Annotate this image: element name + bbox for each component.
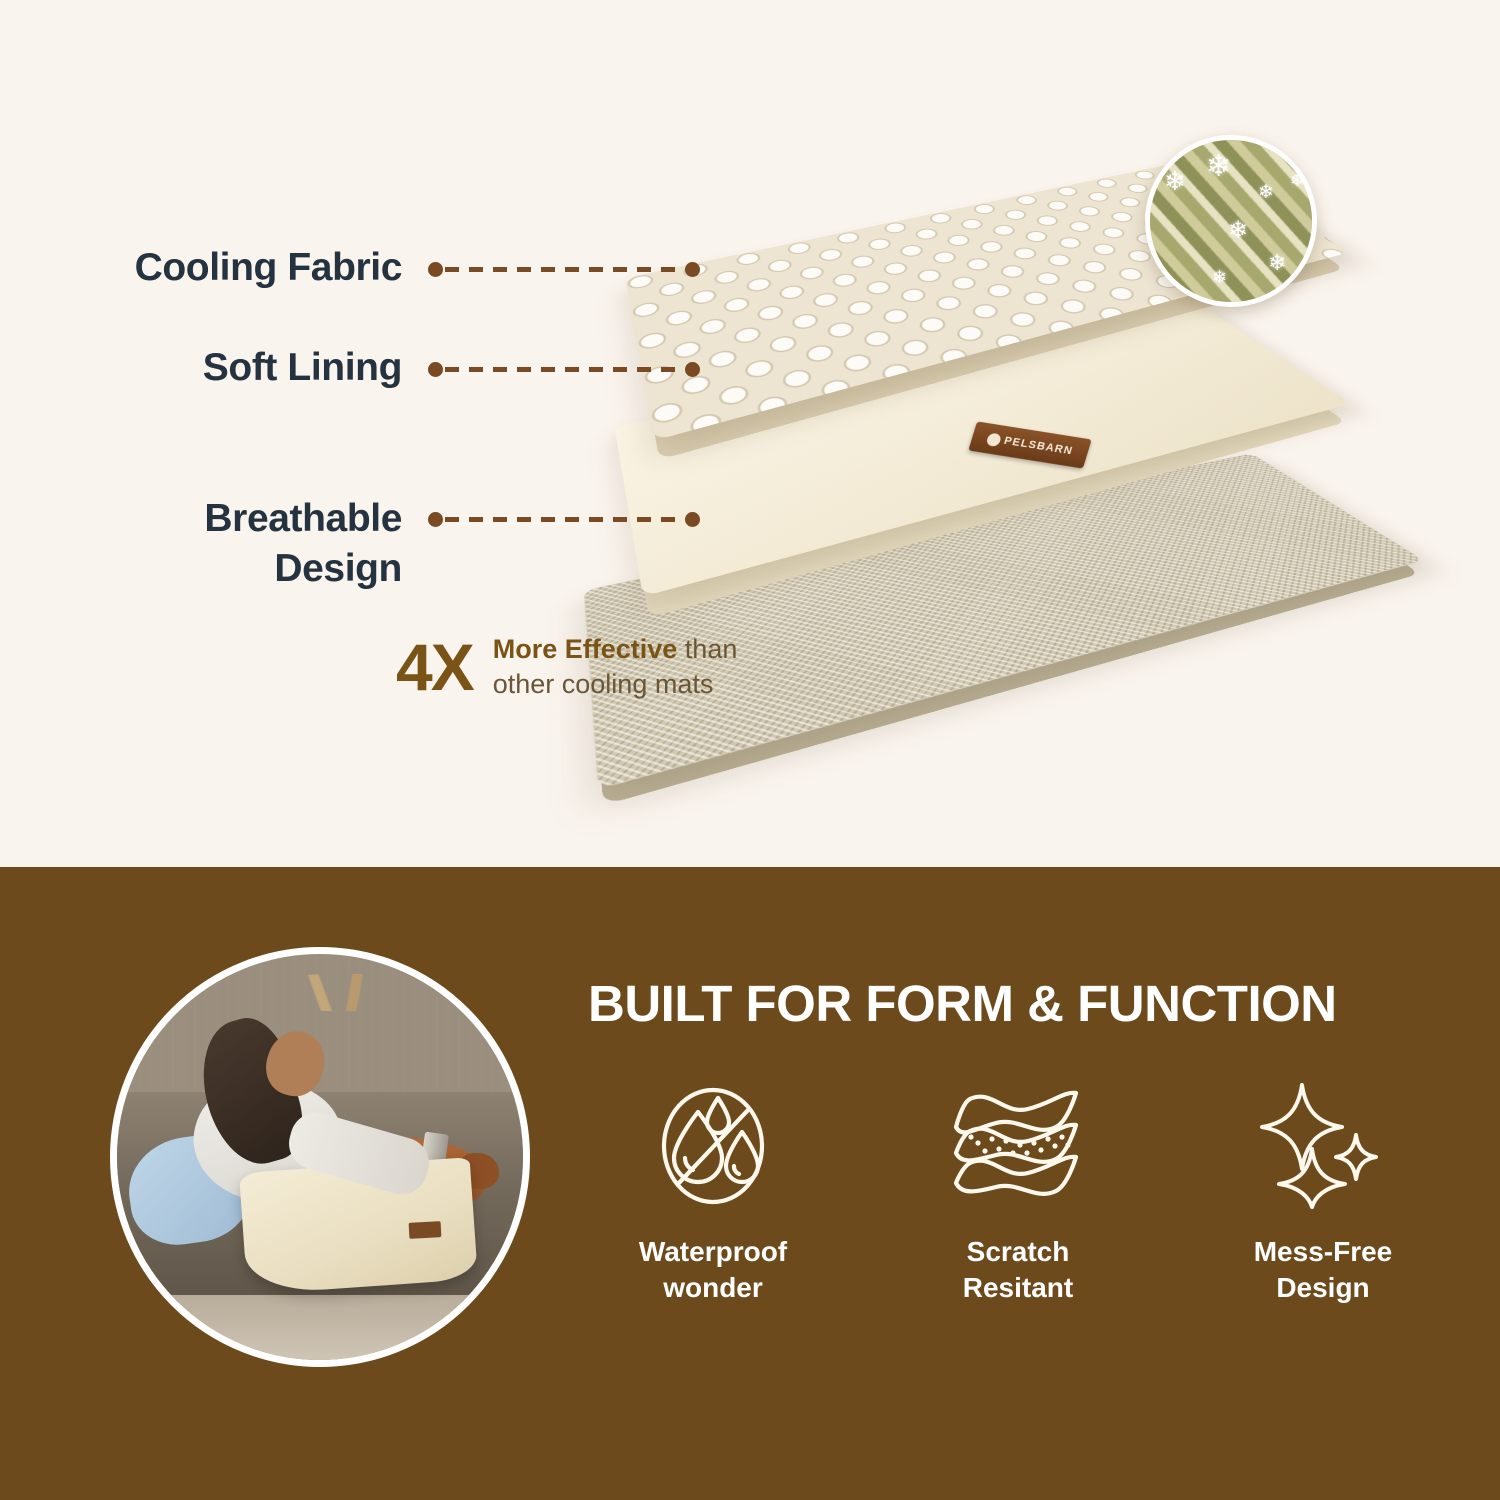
features-heading: BUILT FOR FORM & FUNCTION [588, 974, 1448, 1034]
sparkles-icon [1260, 1082, 1386, 1210]
effectiveness-claim: 4X More Effective than other cooling mat… [396, 632, 737, 702]
photo-floor [117, 1295, 523, 1360]
claim-text-rest: than [677, 634, 737, 664]
snowflake-icon: ❄ [1164, 170, 1186, 192]
claim-text: More Effective than other cooling mats [493, 632, 738, 702]
feature-label-line-1: Waterproof [639, 1234, 787, 1270]
feature-label-line-1: Scratch [963, 1234, 1073, 1270]
snowflake-icon: ❄ [1298, 258, 1311, 280]
product-infographic: PELSBARN ❄ ❄ ❄ ❄ ❄ ❄ ❄ ❄ Cooling Fabric … [0, 0, 1500, 1500]
feature-label-line-2: Resitant [963, 1270, 1073, 1306]
photo-wall-branch-decor [255, 974, 458, 1011]
lifestyle-photo-woman-petting-dog [110, 947, 530, 1367]
feature-label-scratch-resistant: Scratch Resitant [963, 1234, 1073, 1306]
claim-text-bold: More Effective [493, 634, 678, 664]
features-panel: BUILT FOR FORM & FUNCTION Water [0, 867, 1500, 1500]
snowflake-icon: ❄ [1228, 220, 1248, 242]
dashed-line [445, 267, 683, 272]
feature-mess-free: Mess-Free Design [1198, 1082, 1448, 1306]
feature-label-line-2: wonder [639, 1270, 787, 1306]
connector-dot-icon [685, 262, 700, 277]
layers-panel: PELSBARN ❄ ❄ ❄ ❄ ❄ ❄ ❄ ❄ Cooling Fabric … [0, 0, 1500, 867]
connector-dot-icon [428, 262, 443, 277]
claim-multiplier: 4X [396, 634, 473, 700]
snowflake-icon: ❄ [1268, 252, 1286, 274]
brand-name: PELSBARN [1002, 435, 1074, 457]
brand-logo-mark [985, 432, 1002, 447]
connector-dot-icon [428, 512, 443, 527]
connector-dot-icon [428, 362, 443, 377]
dashed-line [445, 367, 683, 372]
feature-label-mess-free: Mess-Free Design [1254, 1234, 1393, 1306]
snowflake-icon: ❄ [1258, 182, 1274, 204]
callout-label-breathable-design: Breathable Design [72, 494, 402, 594]
snowflake-icon: ❄ [1290, 170, 1304, 192]
connector-line-cooling-fabric [428, 260, 700, 278]
connector-dot-icon [685, 512, 700, 527]
snowflake-icon: ❄ [1212, 266, 1227, 288]
connector-line-breathable-design [428, 510, 700, 528]
feature-label-line-1: Mess-Free [1254, 1234, 1393, 1270]
photo-mat-brand-tag [409, 1221, 442, 1239]
features-row: Waterproof wonder [588, 1082, 1448, 1306]
feature-label-waterproof: Waterproof wonder [639, 1234, 787, 1306]
dashed-line [445, 517, 683, 522]
connector-dot-icon [685, 362, 700, 377]
feature-label-line-2: Design [1254, 1270, 1393, 1306]
snowflake-icon: ❄ [1206, 156, 1231, 178]
callout-label-line-1: Breathable [72, 494, 402, 544]
callout-label-line-2: Design [72, 544, 402, 594]
connector-line-soft-lining [428, 360, 700, 378]
feature-waterproof: Waterproof wonder [588, 1082, 838, 1306]
callout-label-cooling-fabric: Cooling Fabric [72, 243, 402, 293]
claim-text-line-2: other cooling mats [493, 667, 738, 702]
cooling-fabric-weave-closeup: ❄ ❄ ❄ ❄ ❄ ❄ ❄ ❄ [1145, 135, 1317, 307]
no-water-droplets-icon [654, 1082, 772, 1210]
callout-label-soft-lining: Soft Lining [72, 343, 402, 393]
wavy-fabric-layers-icon [948, 1082, 1088, 1210]
feature-scratch-resistant: Scratch Resitant [893, 1082, 1143, 1306]
